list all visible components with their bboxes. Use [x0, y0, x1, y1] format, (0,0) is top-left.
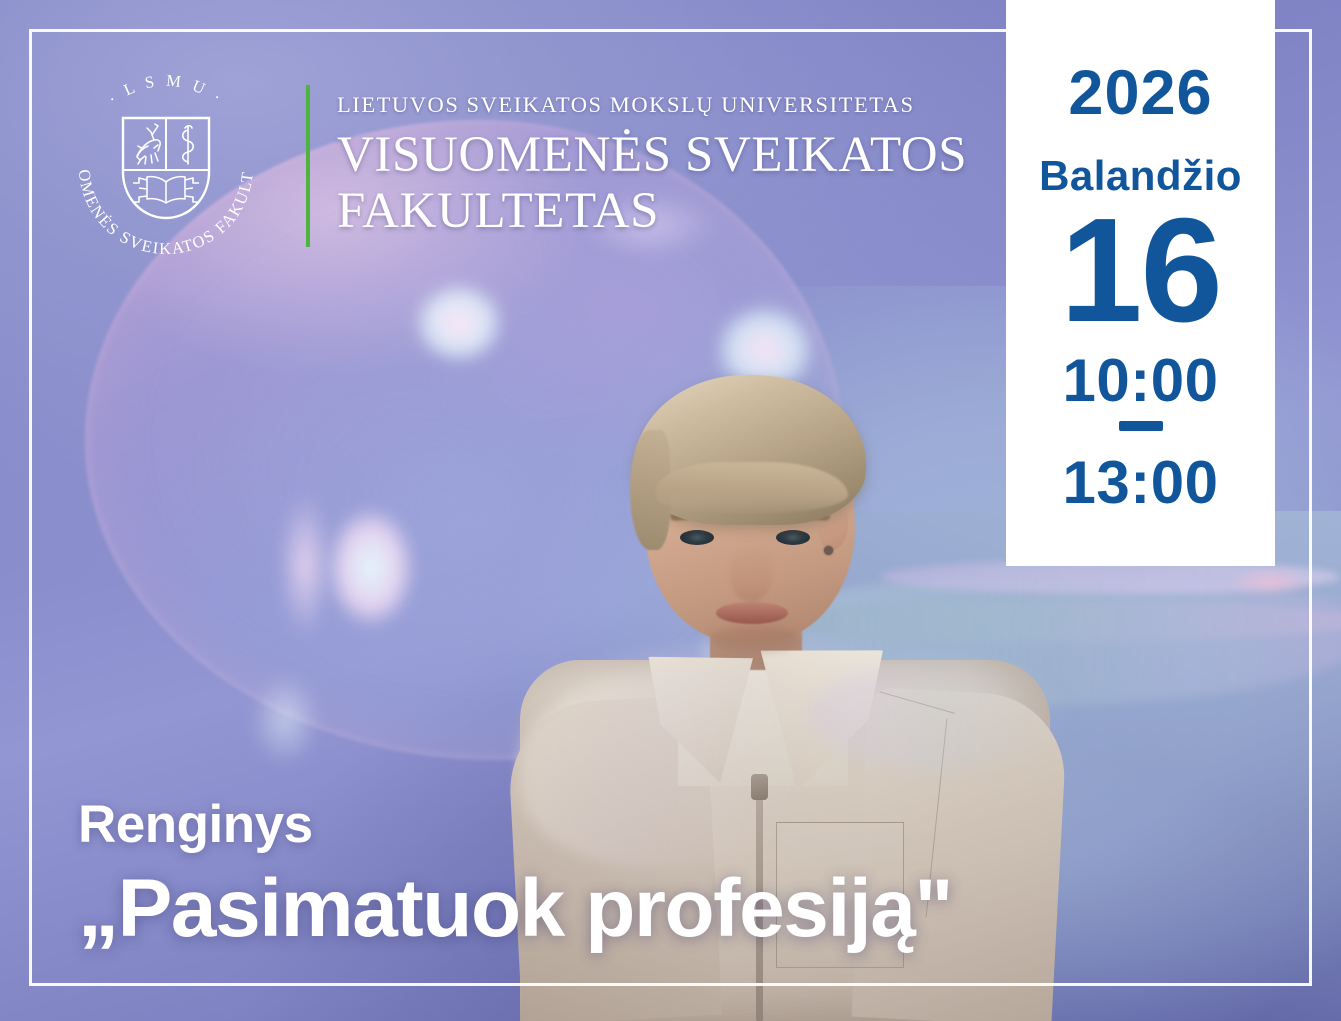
bubble-iridescence-patch — [270, 470, 340, 660]
headline-title: „Pasimatuok profesiją" — [78, 867, 952, 951]
event-time-end: 13:00 — [1063, 453, 1219, 513]
university-titles: LIETUVOS SVEIKATOS MOKSLŲ UNIVERSITETAS … — [337, 94, 997, 239]
nose — [730, 546, 772, 602]
bubble-film-overlay — [810, 660, 1070, 770]
event-year: 2026 — [1068, 62, 1212, 125]
lips — [716, 602, 788, 624]
event-poster: · L S M U · VISUOMENĖS SVEIKATOS FAKULTE… — [0, 0, 1341, 1021]
time-range-dash — [1119, 421, 1163, 431]
eye-right — [776, 530, 810, 545]
chin-shadow — [710, 626, 800, 652]
hair-fringe — [656, 462, 848, 514]
green-divider — [306, 85, 310, 247]
date-panel: 2026 Balandžio 16 10:00 13:00 — [1006, 0, 1275, 566]
lsmu-seal-icon: · L S M U · VISUOMENĖS SVEIKATOS FAKULTE… — [55, 56, 277, 278]
university-name: LIETUVOS SVEIKATOS MOKSLŲ UNIVERSITETAS — [337, 94, 997, 117]
event-time-start: 10:00 — [1063, 351, 1219, 411]
svg-text:· L S M U ·: · L S M U · — [104, 71, 228, 109]
faculty-name: VISUOMENĖS SVEIKATOS FAKULTETAS — [337, 127, 997, 239]
bubble-iridescence-patch — [240, 660, 330, 780]
headline-kicker: Renginys — [78, 798, 952, 851]
bubble-film-highlight — [1215, 565, 1325, 599]
earring — [824, 546, 833, 555]
eye-left — [680, 530, 714, 545]
logo-lockup: · L S M U · VISUOMENĖS SVEIKATOS FAKULTE… — [55, 56, 1015, 286]
event-headline: Renginys „Pasimatuok profesiją" — [78, 798, 952, 951]
event-day: 16 — [1060, 203, 1221, 339]
